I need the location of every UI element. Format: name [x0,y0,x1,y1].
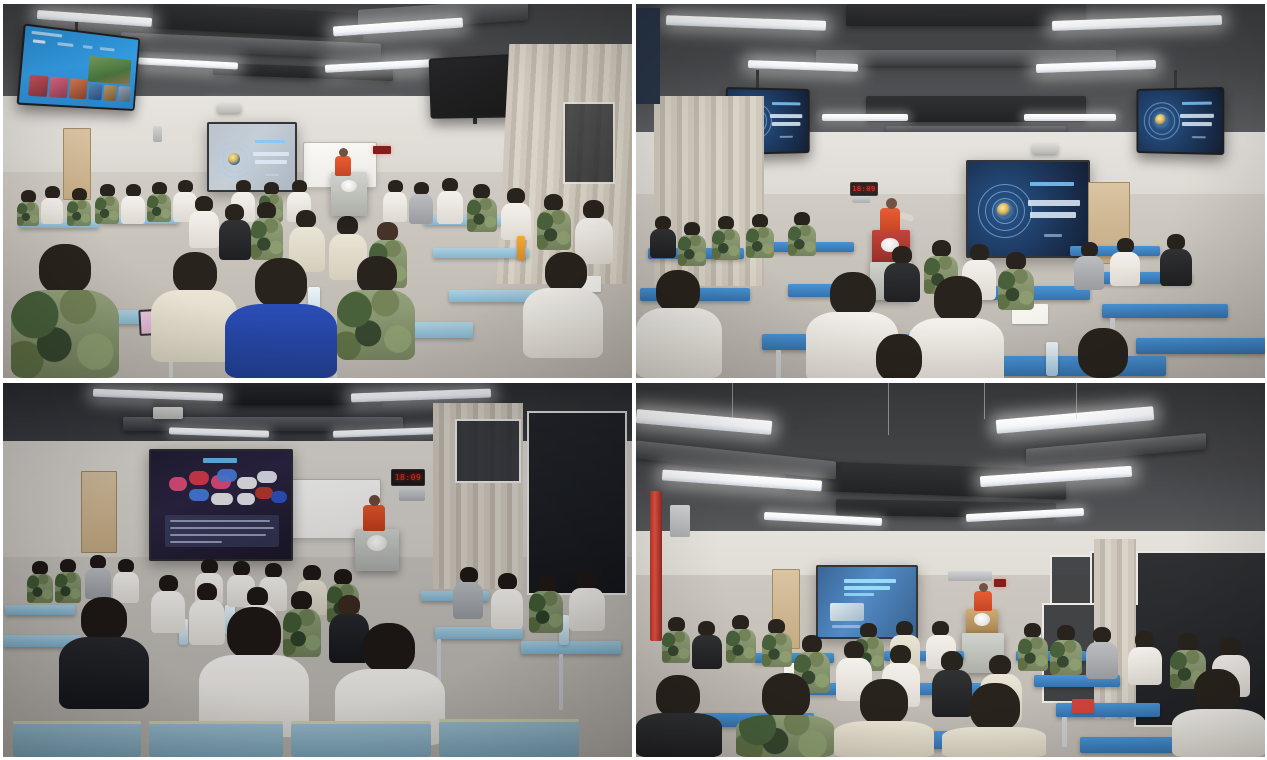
head [545,252,587,292]
head [668,617,685,632]
seat-back[interactable] [439,721,579,757]
audience-member [151,575,185,633]
projector [1032,144,1058,154]
collage-panel-top-left[interactable] [3,4,632,378]
mindmap-node [169,477,187,491]
head [159,575,178,592]
desk-leg [776,350,781,378]
torso [95,196,119,224]
torso [692,635,722,669]
audience-member [788,212,816,256]
audience-member-foreground [199,607,309,737]
audience-member-foreground [1172,669,1265,757]
audience-member-foreground [225,258,337,378]
head [1178,633,1198,651]
head [656,270,700,312]
mindmap-node [189,471,209,485]
mindmap-node [257,471,277,483]
tv-nav-bar [31,31,62,38]
slide-subtitle [255,140,285,143]
slide-subtitle [1030,182,1074,186]
ceiling-duct [846,4,1086,26]
monitor-mount [1174,70,1177,90]
head [265,563,282,578]
head [1024,623,1041,638]
audience-member-foreground [736,673,834,757]
slide-footer [1192,136,1206,138]
head [81,597,127,641]
clock-text: 18:09 [395,473,422,482]
head [970,244,989,261]
audience-member [712,216,740,260]
speaker-head [369,495,380,506]
audience-member [189,196,219,248]
head [752,214,768,228]
torso [523,288,603,358]
torso [27,574,53,603]
torso [736,715,834,757]
head [932,621,949,636]
head [303,565,321,581]
classroom-scene-top-right: 18:09 [636,4,1265,378]
seat-back[interactable] [149,723,283,757]
exit-sign [994,579,1006,587]
podium-logo [341,180,357,192]
audience-member [529,575,563,633]
head [732,615,749,630]
head [173,252,217,294]
torso [17,202,39,226]
head [498,573,517,590]
tv-tab [100,47,115,52]
head [233,561,250,576]
torso [1172,709,1265,757]
head [363,623,415,673]
head [1081,242,1098,257]
head [257,202,276,219]
slide-title-line [1182,122,1212,126]
head [197,583,217,601]
torso [712,229,740,260]
audience-member [1086,627,1118,679]
audience-member [409,182,433,224]
speaker-body [363,505,385,531]
torso [788,225,816,256]
audience-member [491,573,523,629]
torso [1128,647,1162,685]
torso [453,582,483,619]
head [60,559,76,573]
slide-emblem-icon [228,153,240,165]
speaker-body [335,156,351,176]
audience-member [501,188,531,240]
head [876,334,922,378]
seat-top-rail [291,721,431,724]
torso [569,588,605,631]
tv-thumbnail[interactable] [28,75,49,97]
head [201,559,218,574]
torso [1160,249,1192,286]
torso [1086,642,1118,679]
led-clock: 18:09 [391,469,425,486]
torso [85,568,111,599]
torso [762,633,792,667]
slide-text-block [165,515,279,547]
head [794,212,810,226]
tv-tab [33,39,46,44]
mindmap-node [211,493,233,505]
tv-tab [83,45,93,49]
wall-speaker [670,505,690,537]
head [970,683,1020,731]
led-clock: 18:09 [850,182,878,196]
head [1135,631,1154,648]
head [473,184,490,199]
wall-speaker [399,489,425,501]
classroom-scene-top-left [3,4,632,378]
audience-member [1128,631,1162,685]
torso [251,218,283,260]
torso [1074,256,1104,290]
mindmap-node [237,493,255,505]
head [762,673,810,719]
head [296,210,316,228]
audience-member-foreground [636,675,722,757]
audience-member [1074,242,1104,290]
head [896,621,913,636]
head [934,276,982,322]
slide-title-line [770,114,802,118]
torso [409,194,433,224]
wall-ac-unit [948,571,992,581]
audience-member [437,178,463,224]
head [655,216,671,230]
head [802,635,822,653]
desk [433,248,529,258]
collage-panel-bottom-left[interactable]: 18:09 [3,383,632,757]
light-suspension-wire [732,383,733,417]
head [247,587,268,606]
head [583,200,604,219]
head [941,651,963,671]
seat-back[interactable] [13,723,141,757]
audience-member-foreground [636,270,722,378]
podium [331,172,367,216]
tv-thumbnail[interactable] [69,78,88,99]
torso [636,308,722,378]
head [1078,328,1128,378]
wall-panel [636,8,660,104]
seat-top-rail [439,719,579,722]
seat-top-rail [13,721,141,724]
slide-footer [1044,234,1062,237]
audience-member [17,190,39,226]
torso [225,304,337,378]
speaker-body [974,591,992,611]
classroom-scene-bottom-right [636,383,1265,757]
seat-top-rail [149,721,283,724]
torso [383,192,407,222]
audience-member [67,188,91,226]
torso [41,198,63,224]
audience-member [27,561,53,603]
head [989,655,1011,675]
clock-text: 18:09 [852,185,876,193]
audience-member [1018,623,1048,671]
torso [662,631,690,663]
mindmap-node [237,477,257,489]
head [337,216,358,235]
audience-member [746,214,774,258]
window [527,411,627,595]
head [32,561,48,575]
torso [650,229,676,258]
head [225,204,244,221]
slide-text-line [170,527,274,529]
torso [1018,637,1048,671]
head [1006,252,1026,270]
head [507,188,525,204]
audience-member-foreground [858,334,938,378]
mindmap-node [189,489,209,501]
torso [537,210,571,250]
head [932,240,951,257]
torso [337,290,415,360]
head [357,256,397,294]
projector [153,407,183,419]
torso [189,211,219,248]
audience-member-foreground [59,597,149,709]
ceiling-light [822,114,908,121]
door[interactable] [81,471,117,553]
slide-title-line [1030,212,1076,218]
slide-text-line [170,534,266,536]
torso [59,637,149,709]
slide-image [830,603,864,621]
audience-member [662,617,690,663]
speaker-head [886,198,897,209]
slide-text-line [170,541,222,543]
tv-streaming-display[interactable] [17,23,141,111]
head [90,555,106,569]
head [1167,234,1185,250]
torso [834,721,934,757]
projection-screen [149,449,293,561]
torso [147,194,171,222]
head [860,679,908,725]
audience-member-foreground [1060,328,1144,378]
mindmap-node [217,469,237,482]
desk [521,641,621,654]
speaker-body [880,208,900,232]
slide-title-line [1028,200,1080,206]
light-suspension-wire [888,383,889,435]
slide-subtitle [1182,102,1212,105]
audience-member-foreground [11,244,119,378]
head [537,575,556,592]
podium-logo [974,613,990,626]
slide [968,162,1088,256]
wall-speaker [852,196,870,203]
desk-leg [559,654,563,710]
mindmap-node [271,491,287,503]
head [377,222,398,241]
audience-member [650,216,676,258]
torso [636,713,722,757]
collage-panel-bottom-right[interactable] [636,383,1265,757]
head [1194,669,1240,713]
head [844,641,864,659]
exit-sign [373,146,391,154]
slide-text-line [170,520,270,522]
tv-thumbnail[interactable] [49,76,69,98]
slide-footer [780,136,793,138]
desk-leg [1062,717,1067,747]
tv-thumbnail[interactable] [103,85,117,101]
torso [678,235,706,266]
slide [151,451,291,559]
torso [942,727,1046,757]
audience-member [1160,234,1192,286]
podium-logo [367,535,387,551]
audience-member [537,194,571,250]
window-pane [1050,555,1094,605]
head [860,623,877,638]
torso [746,227,774,258]
audience-member [762,619,792,667]
audience-member-foreground [942,683,1046,757]
seat-back[interactable] [291,723,431,757]
head [195,196,213,212]
torso [11,290,119,378]
torso [529,591,563,633]
audience-member [95,184,119,224]
slide-title-line [253,152,289,156]
tv-thumbnail[interactable] [118,86,132,102]
audience-member [121,184,145,224]
audience-member [1050,625,1082,675]
audience-member-foreground [337,256,415,360]
head [118,559,134,573]
torso [467,198,497,232]
head [442,178,458,192]
audience-member [726,615,756,663]
ceiling-light [1024,114,1116,121]
collage-panel-top-right[interactable]: 18:09 [636,4,1265,378]
slide-subtitle [772,102,801,105]
slide-title-line [1180,114,1214,118]
head [684,222,700,236]
head [577,571,597,589]
audience-member [383,180,407,222]
audience-member [85,555,111,599]
head [227,607,281,659]
head [656,675,700,717]
red-folder [1072,699,1094,713]
head [1093,627,1111,643]
slide-title-line [772,122,801,126]
audience-member [569,571,605,631]
desk [1102,304,1228,318]
audience-member [1110,238,1140,286]
head [698,621,715,636]
slide-text-line [844,579,896,583]
head [255,258,307,308]
head [338,595,360,615]
audience-member [467,184,497,232]
projector [217,104,241,113]
torso [726,629,756,663]
tv-tab [57,42,73,47]
audience-member-foreground [523,252,603,358]
torso [1050,640,1082,675]
audience-member [41,186,63,224]
slide-emblem-icon [1155,114,1166,126]
torso [67,200,91,226]
audience-member [678,222,706,266]
slide-text-line [844,586,890,590]
audience-member [147,182,171,222]
slide-emblem-icon [997,203,1011,217]
tv-hero-thumbnail[interactable] [88,56,132,85]
head [39,244,91,294]
speaker-head [339,148,348,157]
head [1220,637,1241,656]
classroom-scene-bottom-left: 18:09 [3,383,632,757]
torso [121,196,145,224]
torso [501,203,531,240]
photo-collage: 18:09 [0,0,1267,760]
audience-member [692,621,722,669]
speaker-head [979,583,988,592]
slide-title-line [255,160,287,164]
head [830,272,876,316]
slide-text-line [844,593,874,596]
light-suspension-wire [984,383,985,419]
head [460,567,478,583]
desk [1136,338,1265,354]
head [334,569,352,585]
monitor-right[interactable] [1136,87,1224,155]
head [892,246,912,264]
torso [151,591,185,633]
torso [437,191,463,224]
water-bottle [1046,342,1058,376]
slide-footer [265,174,279,176]
head [890,645,911,664]
head [544,194,563,211]
torso [1110,252,1140,286]
window-pane [455,419,521,483]
light-suspension-wire [1076,383,1077,419]
head [1117,238,1134,253]
audience-member-foreground [834,679,934,757]
monitor-slide [1138,89,1222,153]
head [768,619,785,634]
wall-speaker [153,126,162,142]
audience-member [453,567,483,619]
fire-standpipe [650,491,662,641]
head [718,216,734,230]
slide-title [203,458,237,463]
audience-member [251,202,283,260]
tv-thumbnail[interactable] [88,84,102,101]
head [1057,625,1075,641]
torso [491,589,523,629]
tv-ui [19,26,139,109]
window [563,102,615,184]
